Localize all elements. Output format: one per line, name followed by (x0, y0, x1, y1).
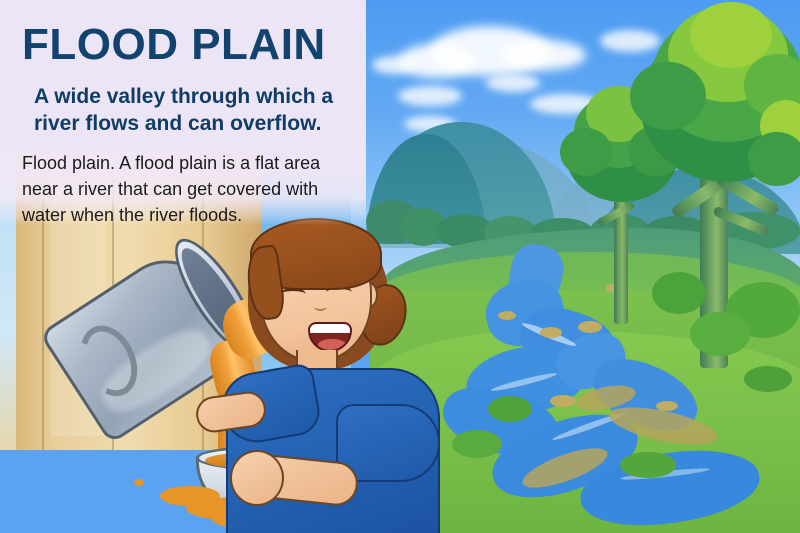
teeth (310, 324, 352, 333)
cloud (500, 40, 586, 70)
cloud (600, 30, 660, 52)
page-title: FLOOD PLAIN (22, 22, 362, 68)
spill-droplet (134, 479, 144, 486)
nose (314, 302, 327, 311)
sandbar (578, 321, 602, 333)
tree-canopy-large (748, 132, 800, 186)
definition-body: Flood plain. A flood plain is a flat are… (22, 150, 322, 228)
sandbar (540, 327, 562, 338)
sandbar (656, 401, 678, 411)
definition-subtitle: A wide valley through which a river flow… (34, 84, 374, 138)
grass-tuft (620, 452, 676, 478)
cloud (398, 86, 462, 106)
text-panel: FLOOD PLAIN A wide valley through which … (0, 0, 366, 225)
hand-right (230, 450, 284, 506)
sandbar (498, 311, 516, 320)
flood-plain-infographic: FLOOD PLAIN A wide valley through which … (0, 0, 800, 533)
tongue (318, 339, 346, 350)
cloud (372, 56, 416, 74)
grass-tuft (488, 396, 532, 422)
cloud (486, 74, 540, 92)
shrub (652, 272, 706, 314)
mouth (308, 322, 352, 352)
grass-tuft (744, 366, 792, 392)
tree-canopy-large (630, 62, 706, 130)
tree-canopy-small (560, 128, 612, 176)
sandbar (550, 395, 576, 407)
smiling-girl (240, 218, 440, 533)
grass-tuft (452, 430, 502, 458)
overflow-spill (160, 486, 220, 506)
shrub (690, 312, 750, 356)
